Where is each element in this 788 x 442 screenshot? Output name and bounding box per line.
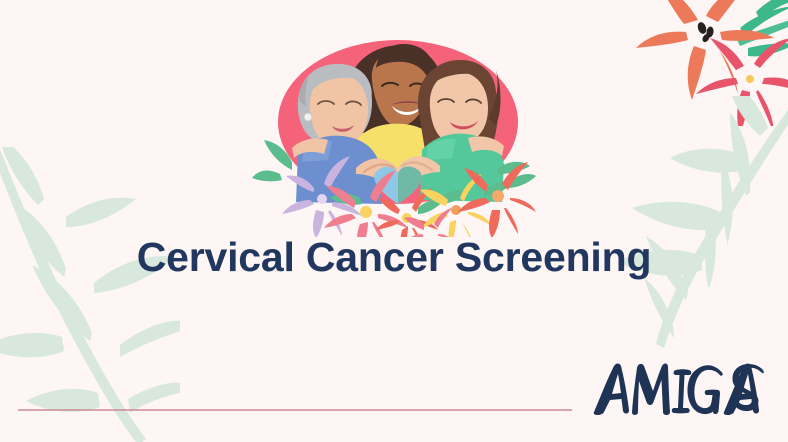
pink-flower [696, 38, 788, 126]
right-leaf-branch-decoration [618, 96, 788, 361]
amigas-illustration [252, 22, 536, 237]
orange-flower-stamen [696, 21, 714, 43]
orange-flower [636, 0, 774, 100]
page-title: Cervical Cancer Screening [0, 234, 788, 281]
slide-canvas: Cervical Cancer Screening [0, 0, 788, 442]
pink-flower-center [746, 75, 754, 83]
green-leaf-sprig [736, 0, 788, 56]
bottom-divider-rule [18, 409, 572, 411]
left-leaf-branch-decoration [0, 147, 180, 442]
amigas-brand-logo [588, 360, 768, 418]
top-right-flowers-decoration [636, 0, 788, 131]
figure-young-woman [418, 60, 504, 202]
